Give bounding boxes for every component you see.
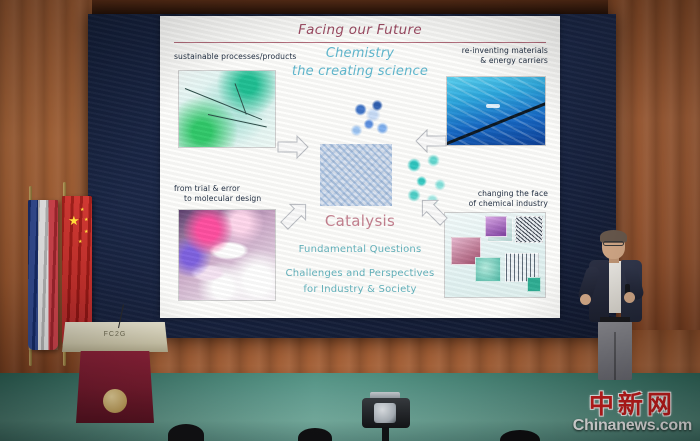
presenter-hand-right (624, 292, 635, 303)
label-trial-error-line2: to molecular design (174, 194, 294, 204)
camera-tripod-mount (382, 427, 389, 441)
label-trial-to-molecular-design: from trial & error to molecular design (174, 184, 294, 205)
label-trial-error-line1: from trial & error (174, 184, 294, 194)
podium-logo-text: FC2G (62, 331, 168, 338)
audience-head-silhouette (298, 428, 332, 441)
material-block-graphic (320, 144, 392, 206)
photo-green-plant (178, 70, 276, 148)
presenter-belt (600, 317, 630, 322)
china-star-large-icon: ★ (68, 214, 80, 227)
china-star-small-2-icon: ★ (84, 218, 88, 223)
podium-body (76, 351, 154, 423)
podium-emblem (103, 389, 127, 413)
presenter-glasses-icon (603, 241, 624, 246)
title-divider (174, 42, 546, 43)
projection-screen: Facing our Future Chemistry the creating… (88, 14, 616, 338)
audience-head-silhouette (168, 424, 204, 441)
presenter-person (580, 232, 652, 380)
slide-subheading-2: Challenges and Perspectives (160, 268, 560, 279)
china-star-small-4-icon: ★ (78, 240, 82, 245)
photo-solar-aircraft (446, 76, 546, 146)
watermark-chinese-text: 中新网 (573, 392, 692, 418)
china-star-small-1-icon: ★ (80, 208, 84, 213)
label-reinventing-materials: re-inventing materials & energy carriers (408, 46, 548, 67)
slide-title: Facing our Future (160, 16, 560, 38)
arrow-to-top-right-icon (414, 128, 448, 154)
presenter-leg-seam (614, 332, 616, 380)
presenter-hand-left (580, 294, 591, 305)
arrow-to-top-left-icon (276, 134, 310, 160)
label-reinventing-materials-line2: & energy carriers (408, 56, 548, 66)
camera-lens-icon (374, 403, 396, 423)
molecule-cluster-top (345, 94, 397, 146)
slide-center-heading: Catalysis (160, 212, 560, 230)
presentation-slide: Facing our Future Chemistry the creating… (160, 16, 560, 318)
label-reinventing-materials-line1: re-inventing materials (408, 46, 548, 56)
watermark-latin-text: Chinanews.com (573, 417, 692, 435)
china-star-small-3-icon: ★ (84, 230, 88, 235)
slide-subheading-1: Fundamental Questions (160, 244, 560, 255)
label-sustainable-processes: sustainable processes/products (174, 52, 334, 62)
conference-hall-scene: Facing our Future Chemistry the creating… (0, 0, 700, 441)
flag-france (28, 200, 58, 350)
video-camera (358, 392, 414, 441)
speaker-podium: FC2G (62, 322, 168, 422)
watermark: 中新网 Chinanews.com (573, 392, 692, 435)
slide-subheading-3: for Industry & Society (160, 284, 560, 295)
